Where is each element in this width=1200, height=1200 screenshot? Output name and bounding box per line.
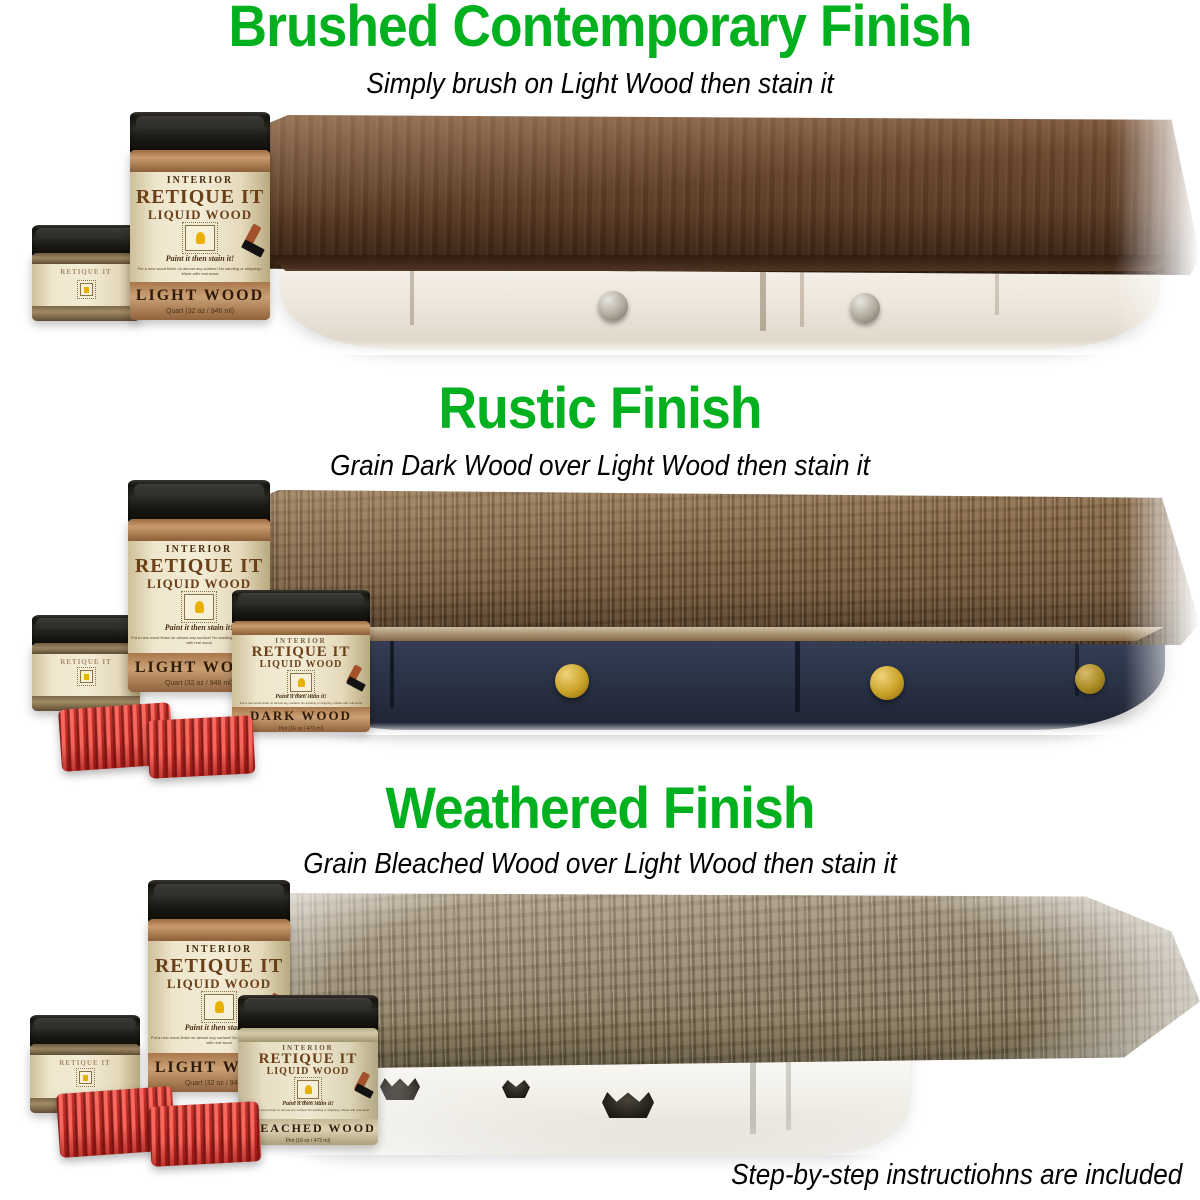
label-variant-text: Light Wood <box>136 287 264 305</box>
label-interior-text: INTERIOR <box>186 944 253 955</box>
drawer-knob <box>1075 664 1105 694</box>
jar-label: RETIQUE IT <box>32 264 140 306</box>
crest-emblem <box>297 1080 319 1099</box>
drawer-pull <box>502 1080 530 1098</box>
tabletop-edge <box>258 255 1183 271</box>
drawer-front-row <box>275 630 1165 730</box>
section-subheading-weathered: Grain Bleached Wood over Light Wood then… <box>60 850 1140 879</box>
crest-emblem <box>204 994 234 1020</box>
wood-grain-texture <box>250 490 1200 645</box>
label-variant-text: Dark Wood <box>250 708 352 724</box>
fleur-de-lis-icon <box>196 232 205 244</box>
jar-band-top <box>238 1028 378 1042</box>
drawer-pull <box>602 1092 654 1118</box>
section-heading-brushed: Brushed Contemporary Finish <box>48 0 1152 56</box>
label-tagline-text: Paint it then stain it! <box>165 623 233 632</box>
brand-text: RETIQUE IT <box>59 1060 110 1067</box>
wood-grain-streaks <box>250 490 1200 645</box>
section-subheading-brushed: Simply brush on Light Wood then stain it <box>60 70 1140 99</box>
wood-graining-rocker <box>147 715 256 778</box>
drawer-divider <box>795 630 800 712</box>
fleur-de-lis-icon <box>83 1075 88 1081</box>
jar-band-top <box>148 919 290 941</box>
section-heading-weathered: Weathered Finish <box>48 780 1152 838</box>
brush-bristles-icon <box>354 1083 374 1099</box>
jar-label: RETIQUE IT <box>32 654 140 696</box>
console-table-rustic <box>250 485 1200 735</box>
fleur-de-lis-icon <box>84 287 89 293</box>
fleur-de-lis-icon <box>195 601 204 613</box>
brand-text: RETIQUE IT <box>60 659 111 666</box>
section-subheading-rustic: Grain Dark Wood over Light Wood then sta… <box>60 452 1140 481</box>
jar-band-top <box>32 643 140 654</box>
label-interior-text: INTERIOR <box>282 1044 333 1052</box>
console-table-brushed-contemporary <box>250 105 1200 355</box>
label-interior-text: INTERIOR <box>166 544 233 555</box>
crest-emblem <box>80 670 93 683</box>
wood-grain-texture <box>250 115 1200 275</box>
jar-band-top <box>128 519 270 541</box>
tabletop-sheen <box>250 893 1200 1068</box>
infographic-page: Brushed Contemporary Finish Simply brush… <box>0 0 1200 1200</box>
fleur-de-lis-icon <box>305 1085 312 1094</box>
label-size-text: Quart (32 oz / 946 ml) <box>166 308 234 315</box>
label-product-line-text: LIQUID WOOD <box>148 208 252 221</box>
jar-band-bottom: Light Wood Quart (32 oz / 946 ml) <box>130 282 270 320</box>
drawer-divider <box>390 630 394 708</box>
product-jar-stain-teal: RETIQUE IT <box>32 615 140 711</box>
label-size-text: Quart (32 oz / 946 ml) <box>165 680 233 687</box>
crest-emblem <box>185 225 215 251</box>
rocker-face <box>150 1136 261 1167</box>
tabletop-sheen <box>250 490 1200 645</box>
label-tagline-text: Paint it then stain it! <box>166 254 234 263</box>
wood-grain-texture <box>250 893 1200 1068</box>
label-brand-text: RETIQUE IT <box>259 1052 358 1067</box>
product-jar-dark-wood: INTERIOR RETIQUE IT LIQUID WOOD Paint it… <box>232 590 370 732</box>
jar-band-top <box>30 1044 140 1055</box>
tabletop-sheen <box>250 115 1200 275</box>
tabletop-rustic <box>250 490 1200 645</box>
console-table-weathered <box>250 885 1200 1155</box>
jar-body: RETIQUE IT <box>32 253 140 321</box>
jar-body: INTERIOR RETIQUE IT LIQUID WOOD Paint it… <box>130 150 270 320</box>
label-size-text: Pint (16 oz / 473 ml) <box>286 1138 331 1144</box>
tabletop-weathered <box>250 893 1200 1068</box>
brush-bristles-icon <box>346 676 366 692</box>
tabletop-brushed-contemporary <box>250 115 1200 275</box>
crest-emblem <box>290 673 312 692</box>
jar-band-top <box>232 621 370 635</box>
label-brand-text: RETIQUE IT <box>135 556 263 576</box>
label-product-line-text: LIQUID WOOD <box>267 1067 350 1077</box>
label-product-line-text: LIQUID WOOD <box>147 577 251 590</box>
fleur-de-lis-icon <box>298 678 305 687</box>
rocker-face <box>148 749 255 779</box>
label-fine-print: Put a new wood finish on almost any surf… <box>133 266 267 276</box>
drawer-pull <box>380 1078 420 1100</box>
section-heading-rustic: Rustic Finish <box>48 380 1152 438</box>
wood-grain-streaks <box>250 893 1200 1068</box>
label-brand-text: RETIQUE IT <box>136 187 264 207</box>
drawer-knob <box>850 293 880 323</box>
jar-label: INTERIOR RETIQUE IT LIQUID WOOD Paint it… <box>130 172 270 282</box>
label-size-text: Pint (16 oz / 473 ml) <box>279 726 324 732</box>
label-brand-text: RETIQUE IT <box>155 956 283 976</box>
jar-body: RETIQUE IT <box>32 643 140 711</box>
drawer-knob <box>598 291 628 321</box>
drawer-knob <box>555 664 589 698</box>
fleur-de-lis-icon <box>215 1001 224 1013</box>
label-interior-text: INTERIOR <box>167 175 234 186</box>
label-fine-print: Put a new wood finish on almost any surf… <box>238 702 365 706</box>
jar-band-bottom <box>32 306 140 321</box>
crest-emblem <box>79 1071 92 1084</box>
jar-label: INTERIOR RETIQUE IT LIQUID WOOD Paint it… <box>238 1042 378 1119</box>
brand-text: RETIQUE IT <box>60 269 111 276</box>
label-product-line-text: LIQUID WOOD <box>167 977 271 990</box>
crest-emblem <box>184 594 214 620</box>
fleur-de-lis-icon <box>84 674 89 680</box>
label-product-line-text: LIQUID WOOD <box>260 660 343 670</box>
jar-body: INTERIOR RETIQUE IT LIQUID WOOD Paint it… <box>232 621 370 732</box>
tabletop-edge <box>258 627 1173 641</box>
label-brand-text: RETIQUE IT <box>252 645 351 660</box>
product-jar-light-wood: INTERIOR RETIQUE IT LIQUID WOOD Paint it… <box>130 112 270 320</box>
product-jar-stain-teal: RETIQUE IT <box>32 225 140 321</box>
jar-label: INTERIOR RETIQUE IT LIQUID WOOD Paint it… <box>232 635 370 707</box>
crest-emblem <box>80 283 93 296</box>
wood-graining-rocker <box>149 1101 262 1167</box>
label-variant-text: Bleached Wood <box>240 1121 375 1136</box>
label-interior-text: INTERIOR <box>275 637 326 645</box>
label-fine-print: Put a new wood finish on almost any surf… <box>244 1109 373 1113</box>
drawer-knob <box>870 666 904 700</box>
footer-note: Step-by-step instructiohns are included <box>731 1161 1182 1190</box>
jar-band-top <box>130 150 270 172</box>
jar-band-top <box>32 253 140 264</box>
